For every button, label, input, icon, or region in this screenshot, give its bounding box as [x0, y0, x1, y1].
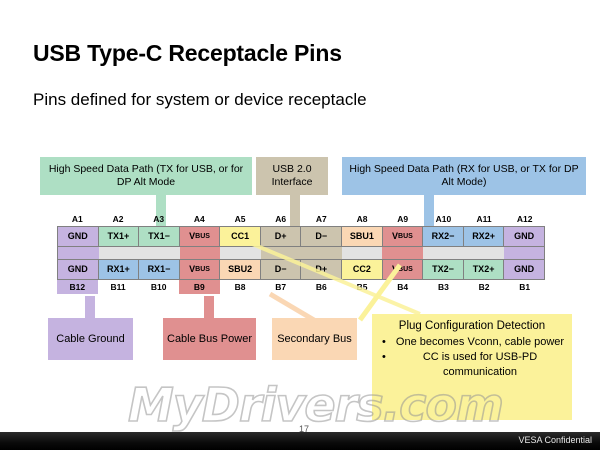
- callout-cable-ground: Cable Ground: [48, 318, 133, 360]
- pin-cell-a-8: SBU1: [342, 227, 383, 246]
- page-title: USB Type-C Receptacle Pins: [33, 40, 342, 67]
- pin-mid-segment-7: [301, 247, 342, 259]
- pin-label-a4: A4: [179, 212, 220, 226]
- b-pin-label-row: B12B11B10B9B8B7B6B5B4B3B2B1: [57, 280, 545, 294]
- pin-label-a7: A7: [301, 212, 342, 226]
- pin-cell-b-12: GND: [504, 260, 544, 279]
- pin-table: A1A2A3A4A5A6A7A8A9A10A11A12 GNDTX1+TX1−V…: [57, 212, 545, 294]
- slide-canvas: USB Type-C Receptacle Pins Pins defined …: [0, 0, 600, 450]
- callout-secondary-bus: Secondary Bus: [272, 318, 357, 360]
- pin-cell-a-9: VBUS: [383, 227, 424, 246]
- pin-label-b2: B2: [464, 280, 505, 294]
- callout-cc-bullet-list: One becomes Vconn, cable powerCC is used…: [378, 335, 566, 380]
- a-pin-label-row: A1A2A3A4A5A6A7A8A9A10A11A12: [57, 212, 545, 226]
- a-pin-row: GNDTX1+TX1−VBUSCC1D+D−SBU1VBUSRX2−RX2+GN…: [57, 226, 545, 247]
- b-pin-row: GNDRX1+RX1−VBUSSBU2D−D+CC2VBUSTX2−TX2+GN…: [57, 259, 545, 280]
- pin-cell-a-4: VBUS: [180, 227, 221, 246]
- pin-mid-segment-2: [99, 247, 140, 259]
- pin-cell-a-11: RX2+: [464, 227, 505, 246]
- pin-cell-b-1: GND: [58, 260, 99, 279]
- pin-label-a10: A10: [423, 212, 464, 226]
- connector-stub-vbus: [204, 296, 214, 319]
- pin-cell-b-10: TX2−: [423, 260, 464, 279]
- callout-cable-bus-power: Cable Bus Power: [163, 318, 256, 360]
- header-callout-usb2: USB 2.0 Interface: [256, 157, 328, 195]
- header-callout-tx: High Speed Data Path (TX for USB, or for…: [40, 157, 252, 195]
- pin-cell-b-2: RX1+: [99, 260, 140, 279]
- pin-label-a6: A6: [260, 212, 301, 226]
- pin-mid-segment-3: [139, 247, 180, 259]
- pin-cell-a-10: RX2−: [423, 227, 464, 246]
- pin-cell-b-6: D−: [261, 260, 302, 279]
- pin-cell-b-5: SBU2: [220, 260, 261, 279]
- pin-mid-segment-10: [423, 247, 464, 259]
- pin-cell-a-6: D+: [261, 227, 302, 246]
- pin-cell-a-7: D−: [301, 227, 342, 246]
- page-subtitle: Pins defined for system or device recept…: [33, 90, 367, 110]
- pin-cell-a-3: TX1−: [139, 227, 180, 246]
- pin-cell-a-5: CC1: [220, 227, 261, 246]
- pin-label-b7: B7: [260, 280, 301, 294]
- callout-cc-bullet-1: One becomes Vconn, cable power: [392, 335, 566, 350]
- pin-label-b1: B1: [504, 280, 545, 294]
- pin-cell-a-12: GND: [504, 227, 544, 246]
- pin-cell-b-3: RX1−: [139, 260, 180, 279]
- footer-bar: [0, 432, 600, 450]
- pin-label-a12: A12: [504, 212, 545, 226]
- pin-label-b6: B6: [301, 280, 342, 294]
- pin-label-a2: A2: [98, 212, 139, 226]
- header-callout-rx: High Speed Data Path (RX for USB, or TX …: [342, 157, 586, 195]
- pin-mid-segment-5: [220, 247, 261, 259]
- pin-cell-b-4: VBUS: [180, 260, 221, 279]
- pin-label-b5: B5: [342, 280, 383, 294]
- pin-label-b11: B11: [98, 280, 139, 294]
- pin-label-b10: B10: [138, 280, 179, 294]
- pin-mid-segment-8: [342, 247, 383, 259]
- pin-mid-segment-12: [504, 247, 545, 259]
- pin-label-a8: A8: [342, 212, 383, 226]
- pin-label-b9: B9: [179, 280, 220, 294]
- callout-cc-bullet-2: CC is used for USB-PD communication: [392, 350, 566, 380]
- pin-cell-b-11: TX2+: [464, 260, 505, 279]
- pin-cell-b-8: CC2: [342, 260, 383, 279]
- pin-label-a9: A9: [382, 212, 423, 226]
- footer-confidentiality-label: VESA Confidential: [518, 435, 592, 445]
- pin-cell-a-1: GND: [58, 227, 99, 246]
- pin-label-b12: B12: [57, 280, 98, 294]
- pin-mid-segment-4: [180, 247, 221, 259]
- pin-mid-segment-11: [463, 247, 504, 259]
- pin-cell-a-2: TX1+: [99, 227, 140, 246]
- pin-label-a1: A1: [57, 212, 98, 226]
- pin-table-middle-band: [57, 247, 545, 259]
- pin-cell-b-7: D+: [301, 260, 342, 279]
- pin-cell-b-9: VBUS: [383, 260, 424, 279]
- pin-label-a5: A5: [220, 212, 261, 226]
- watermark: MyDrivers.com: [128, 378, 503, 432]
- callout-cc-title: Plug Configuration Detection: [378, 319, 566, 334]
- pin-label-b8: B8: [220, 280, 261, 294]
- pin-label-b3: B3: [423, 280, 464, 294]
- pin-mid-segment-1: [58, 247, 99, 259]
- connector-stub-ground: [85, 296, 95, 319]
- pin-mid-segment-9: [382, 247, 423, 259]
- pin-label-b4: B4: [382, 280, 423, 294]
- pin-mid-segment-6: [261, 247, 302, 259]
- pin-label-a11: A11: [464, 212, 505, 226]
- pin-label-a3: A3: [138, 212, 179, 226]
